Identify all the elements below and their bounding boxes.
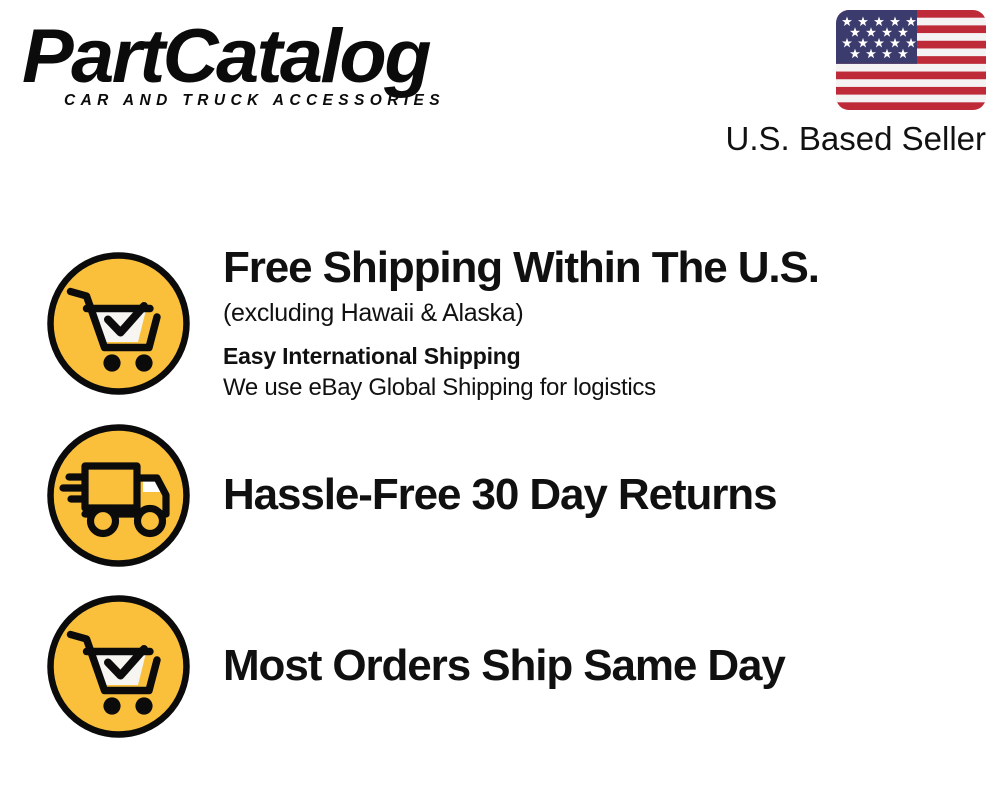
feature-subtitle-bold: Easy International Shipping [223, 342, 980, 370]
shopping-cart-check-icon [45, 250, 192, 397]
feature-subtitle: (excluding Hawaii & Alaska) [223, 298, 980, 329]
list-item: Free Shipping Within The U.S. (excluding… [0, 232, 1000, 414]
feature-text-block: Hassle-Free 30 Day Returns [223, 470, 1000, 520]
list-item: Hassle-Free 30 Day Returns [0, 422, 1000, 568]
promo-banner: PartCatalog CAR AND TRUCK ACCESSORIES [0, 0, 1000, 800]
brand-wordmark: PartCatalog [22, 18, 501, 96]
delivery-truck-icon [45, 422, 192, 569]
shopping-cart-check-icon [45, 593, 192, 740]
feature-title: Most Orders Ship Same Day [223, 641, 980, 691]
us-based-seller-badge: U.S. Based Seller [686, 10, 986, 158]
list-item: Most Orders Ship Same Day [0, 593, 1000, 739]
feature-text-block: Most Orders Ship Same Day [223, 641, 1000, 691]
us-based-seller-label: U.S. Based Seller [686, 120, 986, 158]
feature-text-block: Free Shipping Within The U.S. (excluding… [223, 243, 1000, 403]
us-flag-icon [836, 10, 986, 110]
feature-title: Hassle-Free 30 Day Returns [223, 470, 980, 520]
feature-title: Free Shipping Within The U.S. [223, 243, 980, 293]
brand-logo[interactable]: PartCatalog CAR AND TRUCK ACCESSORIES [22, 18, 492, 118]
feature-subtitle-secondary: We use eBay Global Shipping for logistic… [223, 373, 980, 403]
